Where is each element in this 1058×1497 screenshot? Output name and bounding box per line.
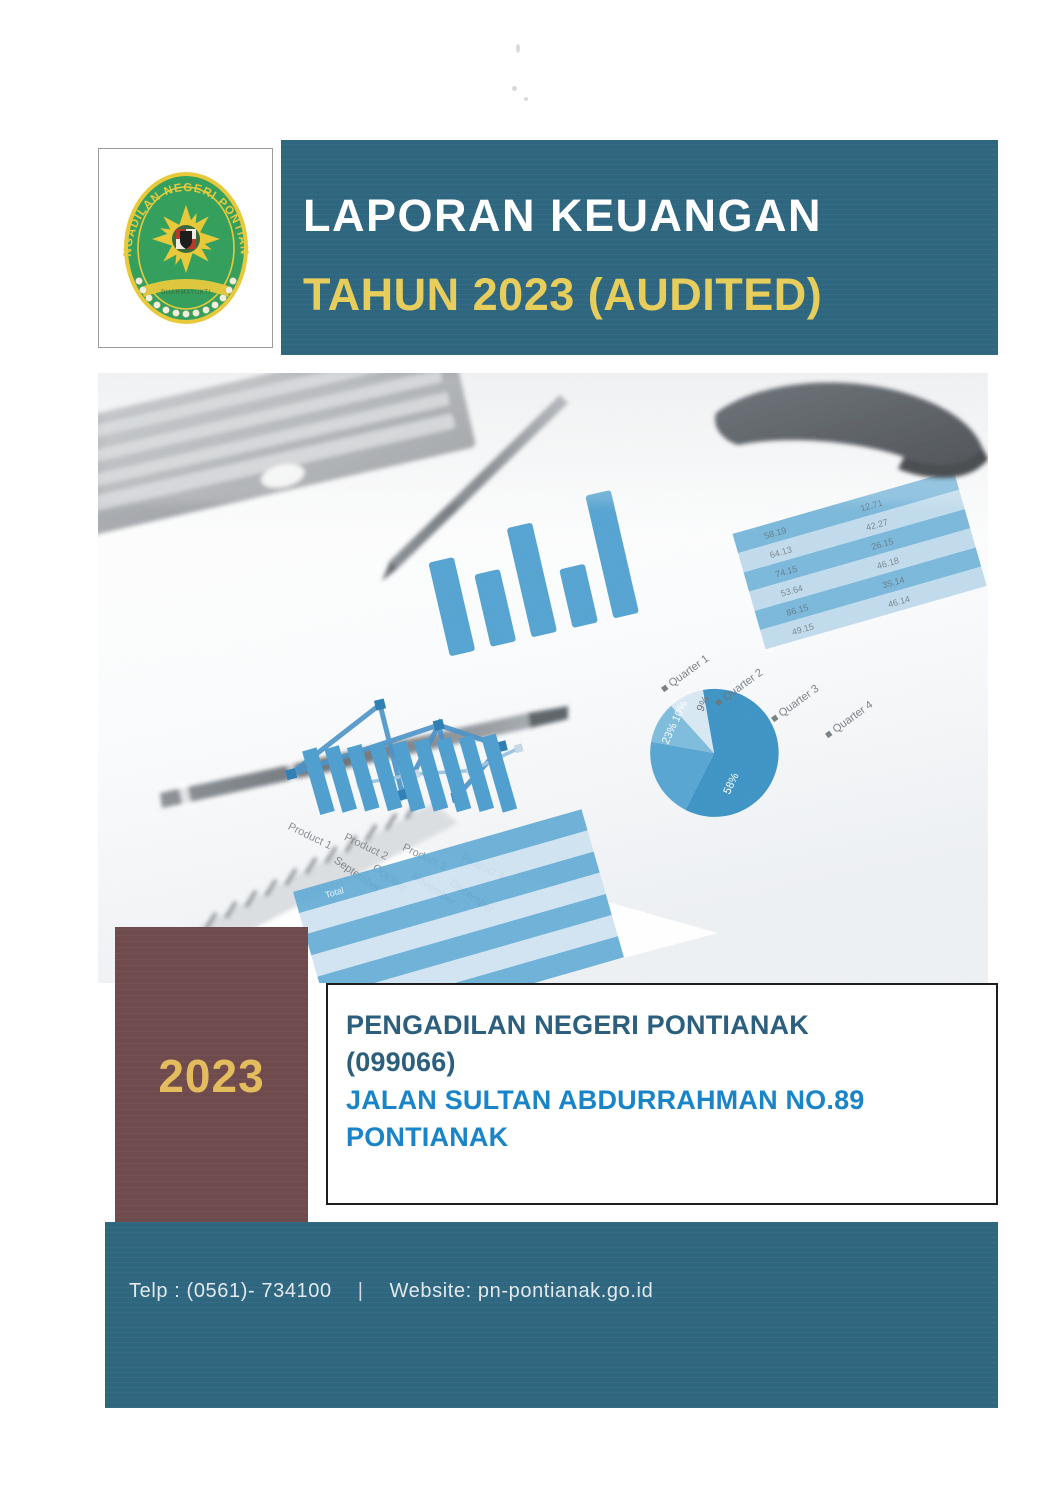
svg-text:DHARMAYUKTI: DHARMAYUKTI [161,290,211,296]
year-label: 2023 [158,1049,264,1103]
scan-artifact [516,44,520,53]
telephone-text: Telp : (0561)- 734100 [129,1280,332,1303]
organization-code: (099066) [346,1044,996,1081]
year-block: 2023 [115,927,308,1224]
pengadilan-negeri-pontianak-seal-icon: PENGADILAN NEGERI PONTIANAK [111,159,261,337]
court-logo-box: PENGADILAN NEGERI PONTIANAK [98,148,273,348]
report-title: LAPORAN KEUANGAN [303,192,998,239]
report-cover-page: PENGADILAN NEGERI PONTIANAK [0,0,1058,1497]
website-text: Website: pn-pontianak.go.id [390,1280,654,1303]
title-banner: LAPORAN KEUANGAN TAHUN 2023 (AUDITED) [281,140,998,355]
footer-bar: Telp : (0561)- 734100 | Website: pn-pont… [105,1222,998,1408]
address-city: PONTIANAK [346,1119,996,1156]
footer-separator: | [358,1280,364,1303]
address-street: JALAN SULTAN ABDURRAHMAN NO.89 [346,1082,996,1119]
organization-info-card: PENGADILAN NEGERI PONTIANAK (099066) JAL… [326,983,998,1205]
scan-artifact [524,97,528,101]
organization-name: PENGADILAN NEGERI PONTIANAK [346,1007,996,1044]
scan-artifact [512,86,517,91]
cover-photo-illustration: Product 1 Product 2 Product 3 Product 4 [98,373,988,983]
report-subtitle-year: TAHUN 2023 (AUDITED) [303,271,998,318]
cover-photograph: Product 1 Product 2 Product 3 Product 4 [98,373,988,983]
footer-contact-row: Telp : (0561)- 734100 | Website: pn-pont… [129,1280,653,1303]
